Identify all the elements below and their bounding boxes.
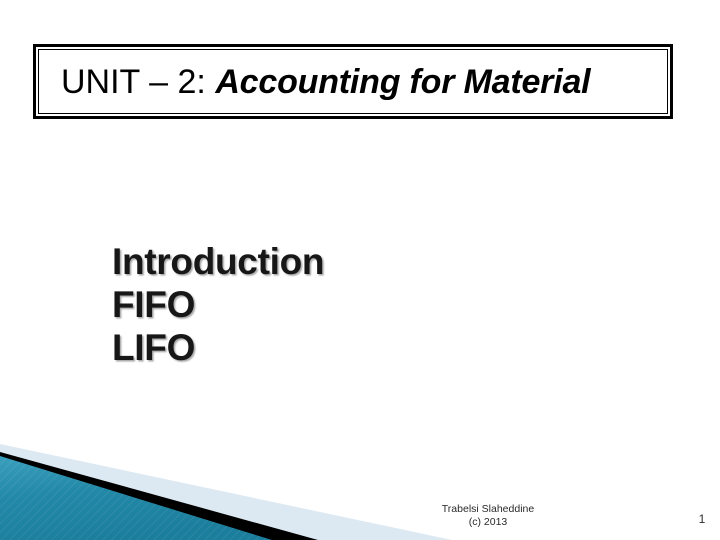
title-prefix: UNIT – 2: <box>61 63 215 101</box>
body-line-introduction: Introduction <box>112 240 532 283</box>
body-line-fifo: FIFO <box>112 283 532 326</box>
slide-number: 1 <box>690 512 714 526</box>
teal-triangle <box>0 456 272 540</box>
body-text-block: Introduction FIFO LIFO <box>112 240 532 369</box>
title-box-inner-border: UNIT – 2: Accounting for Material <box>38 49 668 114</box>
pale-blue-band <box>0 444 452 540</box>
footer-credit: Trabelsi Slaheddine (c) 2013 <box>398 503 578 528</box>
slide-canvas: UNIT – 2: Accounting for Material Introd… <box>0 0 720 540</box>
footer-copyright: (c) 2013 <box>398 516 578 529</box>
title-box: UNIT – 2: Accounting for Material <box>33 44 673 119</box>
teal-triangle-texture <box>0 456 272 540</box>
body-line-lifo: LIFO <box>112 326 532 369</box>
page-title: UNIT – 2: Accounting for Material <box>61 63 590 101</box>
title-emphasis: Accounting for Material <box>215 63 590 101</box>
footer-author: Trabelsi Slaheddine <box>442 503 534 515</box>
black-diagonal-stripe <box>0 452 318 540</box>
